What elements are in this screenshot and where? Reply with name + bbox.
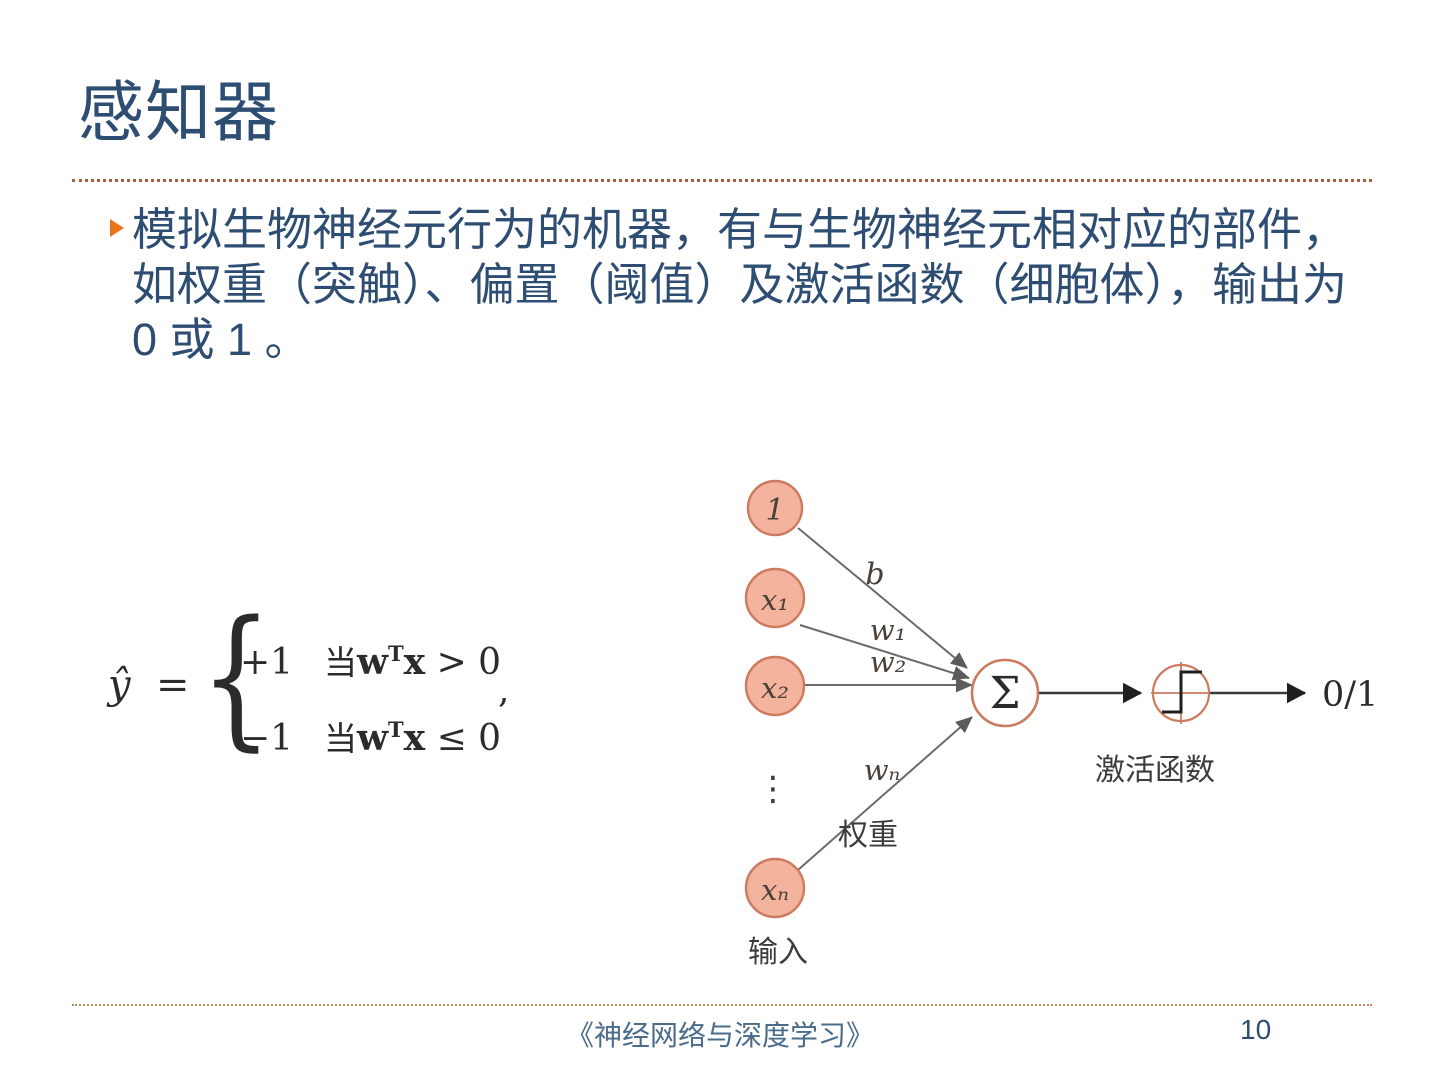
case-transpose-positive: T bbox=[388, 641, 404, 666]
input-node-x2-label: x₂ bbox=[761, 671, 789, 705]
input-node-bias[interactable]: 1 bbox=[748, 481, 802, 535]
bullet-triangle-icon bbox=[110, 219, 124, 237]
formula-trailing-comma: , bbox=[498, 670, 509, 711]
case-vector-w-positive: w bbox=[357, 641, 388, 683]
case-relation-positive: > 0 bbox=[437, 642, 502, 683]
bullet-list: 模拟生物神经元行为的机器，有与生物神经元相对应的部件，如权重（突触）、偏置（阈值… bbox=[110, 203, 1380, 368]
edge-label-wn: wₙ bbox=[864, 753, 901, 787]
edge-label-w1: w₁ bbox=[870, 613, 906, 647]
formula-lhs: ŷ bbox=[108, 662, 131, 708]
perceptron-diagram: 1 x₁ x₂ xₙ ⋮ b w₁ w₂ wₙ bbox=[700, 440, 1400, 1000]
input-node-x1-label: x₁ bbox=[761, 583, 789, 617]
input-node-x1[interactable]: x₁ bbox=[746, 569, 804, 627]
edge-label-w2: w₂ bbox=[870, 645, 906, 679]
case-condition-cn-negative: 当 bbox=[324, 720, 357, 757]
footer-page-number: 10 bbox=[1240, 1014, 1271, 1046]
input-node-x2[interactable]: x₂ bbox=[746, 657, 804, 715]
formula-case-negative: −1当wTx ≤ 0 bbox=[240, 712, 501, 760]
page-title: 感知器 bbox=[78, 78, 279, 147]
formula-equals: = bbox=[156, 662, 190, 708]
footer-divider bbox=[72, 1004, 1372, 1006]
input-node-xn[interactable]: xₙ bbox=[746, 859, 804, 917]
edge-label-b: b bbox=[865, 557, 884, 592]
title-divider bbox=[72, 179, 1372, 182]
footer-book-title: 《神经网络与深度学习》 bbox=[0, 1014, 1440, 1054]
caption-activation: 激活函数 bbox=[1095, 754, 1215, 787]
case-condition-cn-positive: 当 bbox=[324, 644, 357, 681]
output-label: 0/1 bbox=[1322, 675, 1378, 715]
case-vector-x-negative: x bbox=[404, 717, 425, 759]
input-node-bias-label: 1 bbox=[765, 493, 784, 528]
perceptron-formula: ŷ = { +1当wTx > 0 −1当wTx ≤ 0 , bbox=[108, 600, 578, 790]
case-transpose-negative: T bbox=[388, 717, 404, 742]
slide-canvas: 感知器 模拟生物神经元行为的机器，有与生物神经元相对应的部件，如权重（突触）、偏… bbox=[0, 0, 1440, 1080]
case-vector-w-negative: w bbox=[357, 717, 388, 759]
summation-node[interactable]: Σ bbox=[972, 660, 1038, 726]
case-vector-x-positive: x bbox=[404, 641, 425, 683]
case-value-negative: −1 bbox=[240, 718, 324, 759]
input-node-xn-label: xₙ bbox=[761, 873, 789, 907]
bullet-item-text: 模拟生物神经元行为的机器，有与生物神经元相对应的部件，如权重（突触）、偏置（阈值… bbox=[132, 203, 1380, 368]
caption-weights: 权重 bbox=[838, 819, 898, 852]
case-relation-negative: ≤ 0 bbox=[437, 718, 502, 759]
activation-function-node[interactable] bbox=[1151, 662, 1211, 724]
summation-symbol: Σ bbox=[989, 668, 1020, 719]
caption-input: 输入 bbox=[748, 936, 808, 969]
vertical-ellipsis-icon: ⋮ bbox=[756, 770, 790, 808]
case-value-positive: +1 bbox=[240, 642, 324, 683]
formula-case-positive: +1当wTx > 0 bbox=[240, 636, 501, 684]
